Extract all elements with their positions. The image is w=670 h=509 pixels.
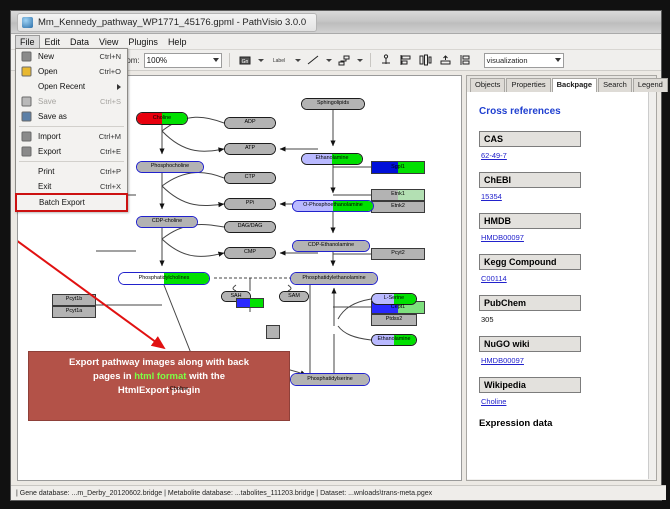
- node-label: Ptdss2: [386, 317, 402, 322]
- node-label: Phosphatidylserine: [307, 377, 353, 382]
- window-title-pill: Mm_Kennedy_pathway_WP1771_45176.gpml - P…: [17, 13, 317, 32]
- tab-legend[interactable]: Legend: [633, 78, 668, 92]
- node-label: SAM: [288, 294, 300, 299]
- callout-line2-pre: pages in: [93, 371, 134, 382]
- node-label: Cept1: [391, 305, 405, 310]
- pathway-node-pcyt2[interactable]: Pcyt2: [371, 248, 425, 260]
- menu-help[interactable]: Help: [163, 35, 192, 49]
- open-folder-icon: [21, 66, 32, 77]
- pathway-node-adp[interactable]: ADP: [224, 117, 276, 129]
- status-text: | Gene database: ...m_Derby_20120602.bri…: [16, 490, 432, 497]
- node-label: Phosphatidylethanolamine: [302, 276, 365, 281]
- pathway-node-phosphocholine[interactable]: Phosphocholine: [136, 161, 204, 173]
- menu-file[interactable]: File: [15, 35, 40, 49]
- svg-text:Gn: Gn: [241, 59, 248, 65]
- menu-item-label: Open Recent: [38, 82, 85, 91]
- pathway-node-ptdserine[interactable]: Phosphatidylserine: [290, 373, 370, 386]
- pathway-node-ophosphoeth[interactable]: O-Phosphoethanolamine: [292, 200, 374, 212]
- node-label: Pcyt1a: [66, 309, 82, 314]
- pathway-node-ctp[interactable]: CTP: [224, 172, 276, 184]
- node-fill-right: [273, 326, 279, 338]
- xref-value-link[interactable]: HMDB00097: [481, 356, 646, 365]
- node-label: Phosphocholine: [151, 164, 189, 169]
- save-icon: [21, 96, 32, 107]
- node-label: CMP: [244, 250, 256, 255]
- menu-item-accelerator: Ctrl+N: [100, 52, 121, 61]
- xref-database-label: PubChem: [479, 295, 581, 311]
- node-label: Choline: [170, 387, 188, 392]
- xref-value-link[interactable]: 62-49-7: [481, 151, 646, 160]
- tab-properties[interactable]: Properties: [506, 78, 550, 92]
- menu-item-label: Save: [38, 97, 56, 106]
- pathway-node-choline[interactable]: Choline: [136, 112, 188, 125]
- file-menu-item-save-as[interactable]: Save as: [16, 109, 127, 124]
- node-label: Ethanolamine: [378, 337, 411, 342]
- chevron-down-icon[interactable]: [326, 59, 332, 62]
- node-label: Pcyt2: [391, 251, 404, 256]
- pathway-node-atp[interactable]: ATP: [224, 143, 276, 155]
- xref-value-link[interactable]: 15354: [481, 192, 646, 201]
- backpage-content: Cross references CAS62-49-7ChEBI15354HMD…: [467, 92, 656, 479]
- save-as-icon: [21, 111, 32, 122]
- node-label: Phosphatidylcholines: [139, 276, 190, 281]
- menu-item-label: Export: [38, 147, 61, 156]
- menu-item-accelerator: Ctrl+O: [99, 67, 121, 76]
- menu-edit[interactable]: Edit: [40, 35, 66, 49]
- side-panel-scrollbar[interactable]: [648, 92, 656, 479]
- menu-item-label: Print: [38, 167, 54, 176]
- menu-item-accelerator: Ctrl+S: [100, 97, 121, 106]
- file-menu-item-batch-export[interactable]: Batch Export: [16, 194, 127, 211]
- export-icon: [21, 146, 32, 157]
- menu-separator: [19, 126, 124, 127]
- node-fill-right: [250, 299, 263, 307]
- pathway-node-cdpcholine[interactable]: CDP-choline: [136, 216, 198, 228]
- chevron-down-icon[interactable]: [357, 59, 363, 62]
- pathway-node-etnk1[interactable]: Etnk1: [371, 189, 425, 201]
- pathway-node-sphingolipids[interactable]: Sphingolipids: [301, 98, 365, 110]
- stack-icon[interactable]: [458, 52, 474, 68]
- pathway-node-ppi[interactable]: PPi: [224, 198, 276, 210]
- xref-value-link[interactable]: HMDB00097: [481, 233, 646, 242]
- node-label: ADP: [244, 120, 255, 125]
- pathway-node-pcyt1b[interactable]: Pcyt1b: [52, 294, 96, 306]
- node-label: Etnk1: [391, 192, 405, 197]
- anchor-icon[interactable]: [378, 52, 394, 68]
- new-file-icon: [21, 51, 32, 62]
- file-menu-item-export[interactable]: ExportCtrl+E: [16, 144, 127, 159]
- node-label: Pcyt1b: [66, 297, 82, 302]
- xref-value-link[interactable]: C00114: [481, 274, 646, 283]
- chevron-down-icon: [555, 58, 561, 62]
- xref-value-link: 305: [481, 315, 646, 324]
- align-left-icon[interactable]: [398, 52, 414, 68]
- pathway-node-ptdethanol[interactable]: Phosphatidylethanolamine: [290, 272, 378, 285]
- pathway-node-ethanolamine2[interactable]: Ethanolamine: [371, 334, 417, 346]
- cross-reference-list: CAS62-49-7ChEBI15354HMDBHMDB00097Kegg Co…: [479, 131, 646, 406]
- visualization-value: visualization: [487, 56, 528, 65]
- pathway-node-pcyt1a[interactable]: Pcyt1a: [52, 306, 96, 318]
- xref-database-label: HMDB: [479, 213, 581, 229]
- xref-value-link[interactable]: Choline: [481, 397, 646, 406]
- menu-item-accelerator: Ctrl+E: [100, 147, 121, 156]
- node-label: CDP-Ethanolamine: [308, 243, 354, 248]
- zoom-select[interactable]: 100%: [144, 53, 222, 68]
- pathway-node-sgpl1[interactable]: Sgpl1: [371, 161, 425, 174]
- pathway-node-ethanolamine[interactable]: Ethanolamine: [301, 153, 363, 165]
- file-menu-item-print[interactable]: PrintCtrl+P: [16, 164, 127, 179]
- menu-item-accelerator: Ctrl+M: [99, 132, 121, 141]
- node-label: PPi: [246, 201, 254, 206]
- menu-separator: [19, 161, 124, 162]
- chevron-down-icon[interactable]: [258, 59, 264, 62]
- node-fill-left: [237, 299, 250, 307]
- tab-backpage[interactable]: Backpage: [552, 78, 597, 93]
- label-icon[interactable]: Label: [268, 52, 290, 68]
- xref-database-label: Kegg Compound: [479, 254, 581, 270]
- xref-database-label: CAS: [479, 131, 581, 147]
- file-menu-item-save: SaveCtrl+S: [16, 94, 127, 109]
- node-label: SAH: [230, 294, 241, 299]
- tab-search[interactable]: Search: [598, 78, 632, 92]
- pathway-node-etnk2[interactable]: Etnk2: [371, 201, 425, 213]
- pathway-node-ptdss2[interactable]: Ptdss2: [371, 314, 417, 326]
- file-menu-item-open[interactable]: OpenCtrl+O: [16, 64, 127, 79]
- file-menu-item-new[interactable]: NewCtrl+N: [16, 49, 127, 64]
- node-label: CTP: [245, 175, 256, 180]
- menu-item-label: New: [38, 52, 54, 61]
- side-panel-tabs: Objects Properties Backpage Search Legen…: [467, 76, 656, 93]
- pathway-node-anchorbox[interactable]: [266, 325, 280, 339]
- xref-database-label: ChEBI: [479, 172, 581, 188]
- menu-item-label: Save as: [38, 112, 67, 121]
- title-bar: Mm_Kennedy_pathway_WP1771_45176.gpml - P…: [11, 11, 661, 34]
- node-label: Etnk2: [391, 204, 405, 209]
- pathway-node-sam1[interactable]: SAM: [279, 291, 309, 302]
- visualization-select[interactable]: visualization: [484, 53, 564, 68]
- app-logo-icon: [22, 17, 33, 28]
- interaction-icon[interactable]: [336, 52, 352, 68]
- annotation-callout: Export pathway images along with back pa…: [28, 351, 290, 421]
- menu-item-label: Import: [38, 132, 61, 141]
- node-label: L-Serine: [384, 296, 404, 301]
- menu-plugins[interactable]: Plugins: [123, 35, 163, 49]
- line-icon[interactable]: [305, 52, 321, 68]
- cross-references-heading: Cross references: [479, 106, 646, 117]
- file-menu-item-exit[interactable]: ExitCtrl+X: [16, 179, 127, 194]
- screenshot-root: Mm_Kennedy_pathway_WP1771_45176.gpml - P…: [0, 0, 670, 509]
- file-menu-item-import[interactable]: ImportCtrl+M: [16, 129, 127, 144]
- file-menu-item-open-recent[interactable]: Open Recent: [16, 79, 127, 94]
- xref-database-label: Wikipedia: [479, 377, 581, 393]
- file-menu-popup[interactable]: NewCtrl+NOpenCtrl+OOpen RecentSaveCtrl+S…: [15, 48, 128, 212]
- node-label: CDP-choline: [152, 219, 182, 224]
- datanode-icon[interactable]: Gn: [237, 52, 253, 68]
- chevron-down-icon[interactable]: [295, 59, 301, 62]
- menu-item-label: Batch Export: [39, 198, 85, 207]
- status-bar: | Gene database: ...m_Derby_20120602.bri…: [11, 485, 666, 500]
- window-title: Mm_Kennedy_pathway_WP1771_45176.gpml - P…: [38, 17, 306, 28]
- pathway-node-cmp[interactable]: CMP: [224, 247, 276, 259]
- node-label: O-Phosphoethanolamine: [303, 203, 363, 208]
- node-label: Sphingolipids: [317, 101, 349, 106]
- svg-text:Label: Label: [273, 58, 285, 64]
- pathvisio-window: Mm_Kennedy_pathway_WP1771_45176.gpml - P…: [10, 10, 662, 501]
- chevron-down-icon: [213, 58, 219, 62]
- menu-data[interactable]: Data: [65, 35, 94, 49]
- zoom-value: 100%: [147, 56, 167, 65]
- tab-objects[interactable]: Objects: [470, 78, 505, 92]
- expression-data-heading: Expression data: [479, 418, 646, 429]
- toolbar-separator: [229, 53, 230, 67]
- align-center-icon[interactable]: [418, 52, 434, 68]
- pathway-node-ptdcholines[interactable]: Phosphatidylcholines: [118, 272, 210, 285]
- menu-view[interactable]: View: [94, 35, 123, 49]
- node-label: Ethanolamine: [316, 156, 349, 161]
- side-panel: Objects Properties Backpage Search Legen…: [466, 75, 657, 481]
- callout-line2-highlight: html format: [134, 371, 186, 382]
- menu-item-accelerator: Ctrl+X: [100, 182, 121, 191]
- node-label: Choline: [153, 116, 171, 121]
- menu-item-label: Exit: [38, 182, 51, 191]
- node-label: ATP: [245, 146, 255, 151]
- toolbar-separator: [370, 53, 371, 67]
- menu-item-label: Open: [38, 67, 58, 76]
- import-icon: [21, 131, 32, 142]
- node-label: Sgpl1: [391, 165, 405, 170]
- callout-line1: Export pathway images along with back: [69, 357, 249, 368]
- distribute-icon[interactable]: [438, 52, 454, 68]
- xref-database-label: NuGO wiki: [479, 336, 581, 352]
- submenu-arrow-icon: [117, 84, 121, 90]
- callout-line2-post: with the: [186, 371, 225, 382]
- pathway-node-dagdag[interactable]: DAG/DAG: [224, 221, 276, 233]
- node-label: DAG/DAG: [238, 224, 263, 229]
- pathway-node-cdpethanol[interactable]: CDP-Ethanolamine: [292, 240, 370, 252]
- pathway-node-pemt[interactable]: [236, 298, 264, 308]
- menu-item-accelerator: Ctrl+P: [100, 167, 121, 176]
